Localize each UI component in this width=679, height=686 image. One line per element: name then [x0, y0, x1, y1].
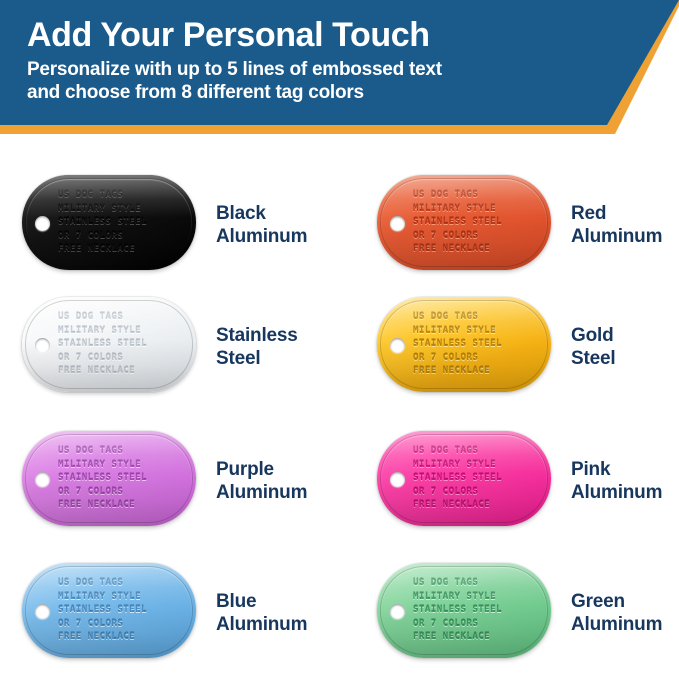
tag-embossed-text: US DOG TAGS MILITARY STYLE STAINLESS STE…: [58, 444, 189, 512]
tag-label-blue: Blue Aluminum: [216, 590, 307, 636]
tag-image-green: US DOG TAGS MILITARY STYLE STAINLESS STE…: [377, 563, 555, 663]
tag-image-black: US DOG TAGS MILITARY STYLE STAINLESS STE…: [22, 175, 200, 275]
tag-text-line-1: US DOG TAGS: [58, 310, 189, 324]
tag-text-line-3: STAINLESS STEEL: [413, 603, 544, 617]
tag-text-line-5: FREE NECKLACE: [413, 242, 544, 256]
tag-label-line-2: Aluminum: [571, 613, 662, 636]
tag-text-line-3: STAINLESS STEEL: [58, 337, 189, 351]
tag-text-line-3: STAINLESS STEEL: [58, 471, 189, 485]
tag-image-purple: US DOG TAGS MILITARY STYLE STAINLESS STE…: [22, 431, 200, 531]
tag-label-line-2: Steel: [216, 347, 298, 370]
tag-text-line-2: MILITARY STYLE: [58, 324, 189, 338]
tag-label-line-2: Aluminum: [571, 225, 662, 248]
tag-label-line-1: Red: [571, 202, 662, 225]
tag-item-red[interactable]: US DOG TAGS MILITARY STYLE STAINLESS STE…: [377, 162, 679, 288]
tag-label-line-1: Pink: [571, 458, 662, 481]
tag-embossed-text: US DOG TAGS MILITARY STYLE STAINLESS STE…: [413, 576, 544, 644]
tag-text-line-4: OR 7 COLORS: [58, 617, 189, 631]
tag-text-line-1: US DOG TAGS: [413, 444, 544, 458]
tag-hole-icon: [390, 604, 405, 619]
tag-text-line-4: OR 7 COLORS: [413, 485, 544, 499]
header-banner: Add Your Personal Touch Personalize with…: [0, 0, 679, 152]
tag-text-line-5: FREE NECKLACE: [58, 242, 189, 256]
tag-embossed-text: US DOG TAGS MILITARY STYLE STAINLESS STE…: [413, 188, 544, 256]
tag-image-pink: US DOG TAGS MILITARY STYLE STAINLESS STE…: [377, 431, 555, 531]
tag-hole-icon: [35, 472, 50, 487]
tag-item-black[interactable]: US DOG TAGS MILITARY STYLE STAINLESS STE…: [22, 162, 352, 288]
tag-text-line-4: OR 7 COLORS: [58, 229, 189, 243]
tag-color-grid: US DOG TAGS MILITARY STYLE STAINLESS STE…: [0, 162, 679, 686]
tag-text-line-4: OR 7 COLORS: [413, 229, 544, 243]
tag-text-line-4: OR 7 COLORS: [58, 351, 189, 365]
tag-text-line-2: MILITARY STYLE: [58, 590, 189, 604]
page-title: Add Your Personal Touch: [27, 16, 587, 54]
tag-text-line-4: OR 7 COLORS: [58, 485, 189, 499]
tag-text-line-4: OR 7 COLORS: [413, 617, 544, 631]
banner-text-block: Add Your Personal Touch Personalize with…: [27, 16, 587, 104]
tag-text-line-1: US DOG TAGS: [58, 444, 189, 458]
tag-text-line-3: STAINLESS STEEL: [413, 215, 544, 229]
tag-label-pink: Pink Aluminum: [571, 458, 662, 504]
tag-item-purple[interactable]: US DOG TAGS MILITARY STYLE STAINLESS STE…: [22, 418, 352, 544]
tag-image-stainless: US DOG TAGS MILITARY STYLE STAINLESS STE…: [22, 297, 200, 397]
tag-image-gold: US DOG TAGS MILITARY STYLE STAINLESS STE…: [377, 297, 555, 397]
tag-text-line-2: MILITARY STYLE: [413, 590, 544, 604]
tag-text-line-5: FREE NECKLACE: [58, 364, 189, 378]
tag-label-line-1: Blue: [216, 590, 307, 613]
tag-hole-icon: [35, 216, 50, 231]
tag-label-line-1: Black: [216, 202, 307, 225]
tag-embossed-text: US DOG TAGS MILITARY STYLE STAINLESS STE…: [58, 310, 189, 378]
tag-text-line-5: FREE NECKLACE: [413, 364, 544, 378]
tag-label-line-2: Steel: [571, 347, 615, 370]
tag-hole-icon: [390, 472, 405, 487]
tag-hole-icon: [35, 604, 50, 619]
tag-label-line-2: Aluminum: [216, 225, 307, 248]
tag-label-line-2: Aluminum: [216, 613, 307, 636]
banner-subtitle-line-1: Personalize with up to 5 lines of emboss…: [27, 58, 587, 81]
tag-text-line-5: FREE NECKLACE: [413, 630, 544, 644]
tag-label-line-2: Aluminum: [571, 481, 662, 504]
tag-label-line-1: Stainless: [216, 324, 298, 347]
banner-subtitle-line-2: and choose from 8 different tag colors: [27, 81, 587, 104]
tag-embossed-text: US DOG TAGS MILITARY STYLE STAINLESS STE…: [413, 310, 544, 378]
tag-text-line-3: STAINLESS STEEL: [413, 337, 544, 351]
tag-image-red: US DOG TAGS MILITARY STYLE STAINLESS STE…: [377, 175, 555, 275]
tag-embossed-text: US DOG TAGS MILITARY STYLE STAINLESS STE…: [58, 188, 189, 256]
tag-label-red: Red Aluminum: [571, 202, 662, 248]
tag-label-line-2: Aluminum: [216, 481, 307, 504]
tag-hole-icon: [390, 338, 405, 353]
tag-text-line-2: MILITARY STYLE: [58, 458, 189, 472]
tag-text-line-2: MILITARY STYLE: [413, 324, 544, 338]
tag-label-line-1: Purple: [216, 458, 307, 481]
tag-text-line-2: MILITARY STYLE: [413, 458, 544, 472]
tag-text-line-1: US DOG TAGS: [413, 310, 544, 324]
tag-label-line-1: Gold: [571, 324, 615, 347]
tag-text-line-3: STAINLESS STEEL: [58, 603, 189, 617]
tag-label-gold: Gold Steel: [571, 324, 615, 370]
tag-embossed-text: US DOG TAGS MILITARY STYLE STAINLESS STE…: [413, 444, 544, 512]
tag-text-line-3: STAINLESS STEEL: [58, 215, 189, 229]
tag-text-line-2: MILITARY STYLE: [413, 202, 544, 216]
tag-image-blue: US DOG TAGS MILITARY STYLE STAINLESS STE…: [22, 563, 200, 663]
tag-label-line-1: Green: [571, 590, 662, 613]
tag-label-black: Black Aluminum: [216, 202, 307, 248]
tag-text-line-2: MILITARY STYLE: [58, 202, 189, 216]
tag-item-stainless[interactable]: US DOG TAGS MILITARY STYLE STAINLESS STE…: [22, 284, 352, 410]
tag-text-line-5: FREE NECKLACE: [58, 498, 189, 512]
tag-text-line-1: US DOG TAGS: [413, 188, 544, 202]
tag-item-pink[interactable]: US DOG TAGS MILITARY STYLE STAINLESS STE…: [377, 418, 679, 544]
tag-text-line-1: US DOG TAGS: [58, 188, 189, 202]
tag-item-green[interactable]: US DOG TAGS MILITARY STYLE STAINLESS STE…: [377, 548, 679, 678]
tag-text-line-3: STAINLESS STEEL: [413, 471, 544, 485]
tag-label-green: Green Aluminum: [571, 590, 662, 636]
tag-text-line-1: US DOG TAGS: [58, 576, 189, 590]
tag-text-line-5: FREE NECKLACE: [413, 498, 544, 512]
tag-hole-icon: [35, 338, 50, 353]
tag-text-line-5: FREE NECKLACE: [58, 630, 189, 644]
tag-label-stainless: Stainless Steel: [216, 324, 298, 370]
tag-item-gold[interactable]: US DOG TAGS MILITARY STYLE STAINLESS STE…: [377, 284, 679, 410]
tag-label-purple: Purple Aluminum: [216, 458, 307, 504]
tag-text-line-1: US DOG TAGS: [413, 576, 544, 590]
tag-embossed-text: US DOG TAGS MILITARY STYLE STAINLESS STE…: [58, 576, 189, 644]
tag-text-line-4: OR 7 COLORS: [413, 351, 544, 365]
tag-item-blue[interactable]: US DOG TAGS MILITARY STYLE STAINLESS STE…: [22, 548, 352, 678]
tag-hole-icon: [390, 216, 405, 231]
